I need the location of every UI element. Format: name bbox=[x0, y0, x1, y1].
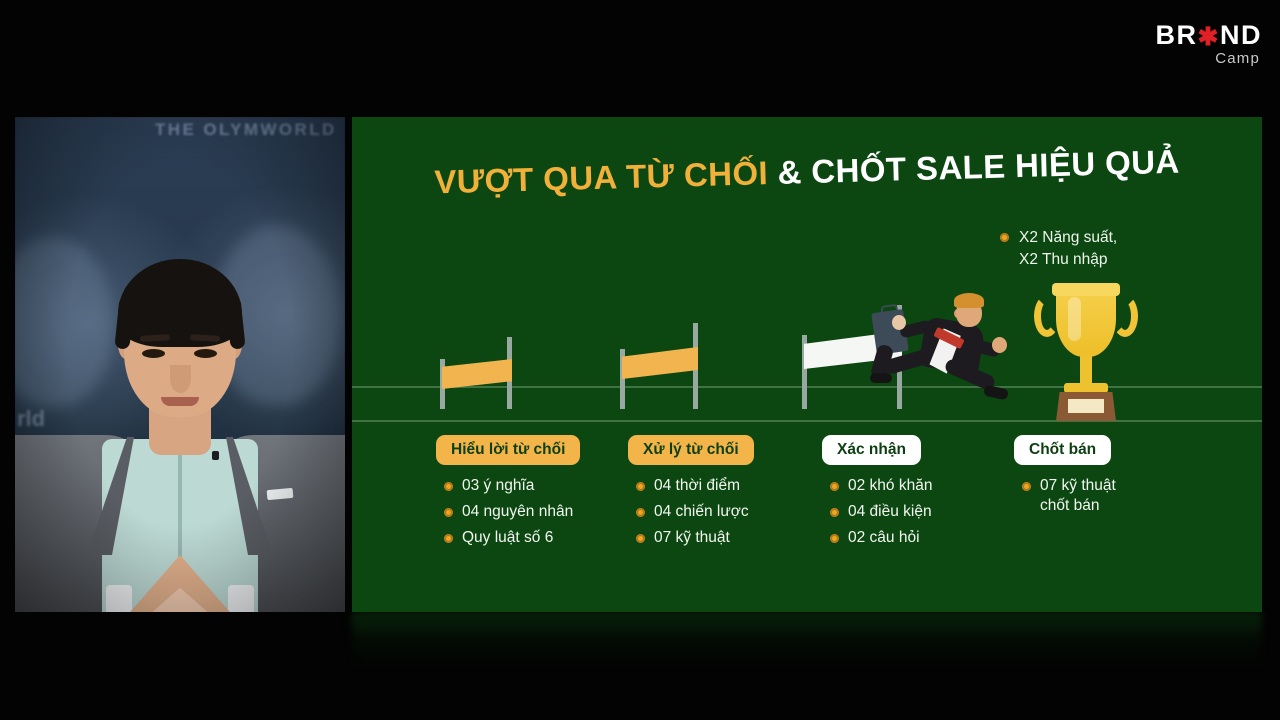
runner-hair bbox=[954, 293, 984, 308]
list-item-text: 04 nguyên nhân bbox=[462, 502, 573, 522]
brand-camp-logo: BR✱ND Camp bbox=[1156, 22, 1262, 66]
businessman-runner-illustration bbox=[872, 275, 1012, 415]
step-card-1-list: 03 ý nghĩa 04 nguyên nhân Quy luật số 6 bbox=[436, 476, 616, 547]
list-item: 07 kỹ thuật bbox=[636, 528, 808, 548]
bullet-dot-icon bbox=[1000, 233, 1009, 242]
list-item: 03 ý nghĩa bbox=[444, 476, 616, 496]
list-item: 04 chiến lược bbox=[636, 502, 808, 522]
bullet-dot-icon bbox=[830, 482, 839, 491]
list-item-text: Quy luật số 6 bbox=[462, 528, 553, 548]
list-item: 02 câu hỏi bbox=[830, 528, 1002, 548]
step-card-2: Xử lý từ chối 04 thời điểm 04 chiến lược… bbox=[628, 435, 808, 554]
slide-title-highlight: VƯỢT QUA TỪ CHỐI bbox=[434, 154, 769, 200]
list-item-text: 03 ý nghĩa bbox=[462, 476, 534, 496]
hurdle-bar bbox=[622, 347, 698, 379]
step-cards: Hiểu lời từ chối 03 ý nghĩa 04 nguyên nh… bbox=[352, 435, 1262, 554]
trophy-rim bbox=[1052, 283, 1120, 296]
bullet-dot-icon bbox=[444, 482, 453, 491]
list-item-text: 04 thời điểm bbox=[654, 476, 740, 496]
step-card-2-label[interactable]: Xử lý từ chối bbox=[628, 435, 754, 465]
bullet-dot-icon bbox=[1022, 482, 1031, 491]
list-item: 07 kỹ thuật chốt bán bbox=[1022, 476, 1194, 516]
trophy-stem bbox=[1080, 355, 1092, 385]
logo-wordmark: BR✱ND bbox=[1156, 22, 1262, 49]
list-item: 04 điều kiện bbox=[830, 502, 1002, 522]
list-item-text: 07 kỹ thuật bbox=[654, 528, 730, 548]
step-card-1-label[interactable]: Hiểu lời từ chối bbox=[436, 435, 580, 465]
list-item: 04 nguyên nhân bbox=[444, 502, 616, 522]
logo-text-part1: BR bbox=[1156, 20, 1198, 50]
screenshot-stage: BR✱ND Camp THE OLYMWORLD rld bbox=[0, 0, 1280, 720]
step-card-3-list: 02 khó khăn 04 điều kiện 02 câu hỏi bbox=[822, 476, 1002, 547]
callout-text: X2 Năng suất, X2 Thu nhập bbox=[1019, 227, 1117, 271]
runner-shoe-front bbox=[983, 385, 1009, 401]
bullet-dot-icon bbox=[830, 508, 839, 517]
hurdle-bar bbox=[442, 359, 512, 389]
step-card-2-list: 04 thời điểm 04 chiến lược 07 kỹ thuật bbox=[628, 476, 808, 547]
bullet-dot-icon bbox=[830, 534, 839, 543]
runner-fist-front bbox=[992, 337, 1007, 353]
logo-subtitle: Camp bbox=[1156, 51, 1260, 66]
list-item: 04 thời điểm bbox=[636, 476, 808, 496]
list-item-text: 02 khó khăn bbox=[848, 476, 932, 496]
list-item-text: 02 câu hỏi bbox=[848, 528, 920, 548]
trophy-cup bbox=[1056, 291, 1116, 357]
logo-text-part2: ND bbox=[1220, 20, 1262, 50]
bullet-dot-icon bbox=[636, 534, 645, 543]
callout-x2: X2 Năng suất, X2 Thu nhập bbox=[1000, 227, 1117, 271]
trophy-illustration bbox=[1034, 273, 1138, 421]
step-card-4: Chốt bán 07 kỹ thuật chốt bán bbox=[1014, 435, 1194, 554]
runner-fist-back bbox=[892, 315, 906, 330]
slide-reflection bbox=[352, 612, 1262, 670]
list-item: 02 khó khăn bbox=[830, 476, 1002, 496]
step-card-3: Xác nhận 02 khó khăn 04 điều kiện 02 câu… bbox=[822, 435, 1002, 554]
hurdle-2 bbox=[620, 323, 698, 409]
step-card-1: Hiểu lời từ chối 03 ý nghĩa 04 nguyên nh… bbox=[436, 435, 616, 554]
presenter-video-panel: THE OLYMWORLD rld bbox=[15, 117, 345, 612]
trophy-foot bbox=[1064, 383, 1108, 393]
bullet-dot-icon bbox=[444, 508, 453, 517]
step-card-3-label[interactable]: Xác nhận bbox=[822, 435, 921, 465]
step-card-4-label[interactable]: Chốt bán bbox=[1014, 435, 1111, 465]
trophy-plaque bbox=[1068, 399, 1104, 413]
bullet-dot-icon bbox=[636, 508, 645, 517]
hurdle-1 bbox=[440, 337, 512, 409]
runner-shoe-back bbox=[870, 373, 892, 383]
presentation-slide: VƯỢT QUA TỪ CHỐI & CHỐT SALE HIỆU QUẢ X2… bbox=[352, 117, 1262, 612]
step-card-4-list: 07 kỹ thuật chốt bán bbox=[1014, 476, 1194, 516]
presenter-vignette bbox=[15, 117, 345, 612]
bullet-dot-icon bbox=[636, 482, 645, 491]
trophy-highlight bbox=[1068, 297, 1081, 341]
logo-star-icon: ✱ bbox=[1198, 23, 1220, 51]
list-item: Quy luật số 6 bbox=[444, 528, 616, 548]
slide-title-rest: & CHỐT SALE HIỆU QUẢ bbox=[767, 143, 1180, 191]
bullet-dot-icon bbox=[444, 534, 453, 543]
slide-title: VƯỢT QUA TỪ CHỐI & CHỐT SALE HIỆU QUẢ bbox=[352, 140, 1262, 203]
list-item-text: 07 kỹ thuật chốt bán bbox=[1040, 476, 1116, 516]
list-item-text: 04 chiến lược bbox=[654, 502, 749, 522]
list-item-text: 04 điều kiện bbox=[848, 502, 932, 522]
